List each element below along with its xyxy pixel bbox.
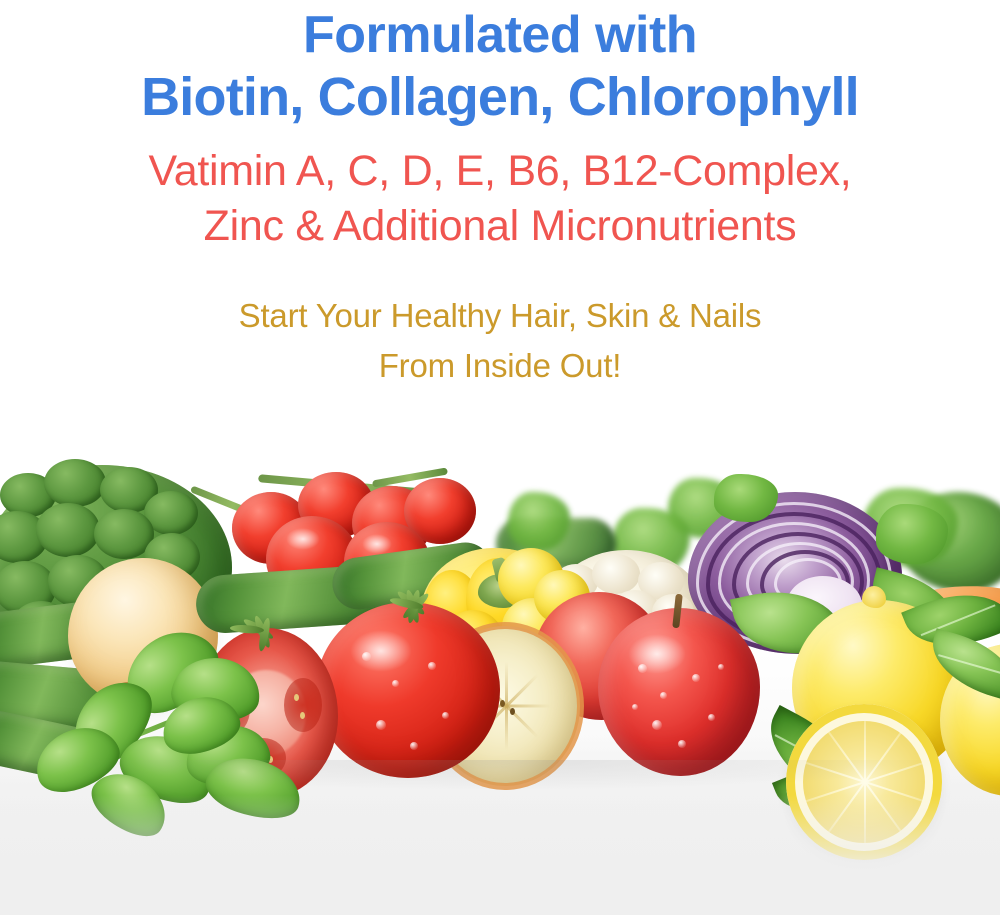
beefsteak-tomato [316,602,500,778]
tomato-highlight-2 [362,534,392,554]
subheadline-line-1: Vatimin A, C, D, E, B6, B12-Complex, [0,144,1000,199]
parsley-left-mid [508,492,570,550]
headline-line-1: Formulated with [0,4,1000,66]
apple-seed-2 [510,708,515,715]
lemon-tip-left [862,586,886,608]
headline: Formulated with Biotin, Collagen, Chloro… [0,0,1000,128]
produce-photograph [0,430,1000,915]
banner-root: Formulated with Biotin, Collagen, Chloro… [0,0,1000,915]
apple-front [598,608,760,776]
apple-seed-1 [500,700,505,707]
tagline-line-1: Start Your Healthy Hair, Skin & Nails [0,291,1000,341]
subheadline: Vatimin A, C, D, E, B6, B12-Complex, Zin… [0,128,1000,254]
tagline-line-2: From Inside Out! [0,341,1000,391]
marketing-text-block: Formulated with Biotin, Collagen, Chloro… [0,0,1000,440]
tagline: Start Your Healthy Hair, Skin & Nails Fr… [0,254,1000,391]
subheadline-line-2: Zinc & Additional Micronutrients [0,199,1000,254]
parsley-right-cabbage [876,504,948,564]
surface-fade [0,795,1000,915]
tomato-highlight-1 [286,528,320,550]
headline-line-2: Biotin, Collagen, Chlorophyll [0,66,1000,128]
parsley-over-cabbage [714,474,778,522]
